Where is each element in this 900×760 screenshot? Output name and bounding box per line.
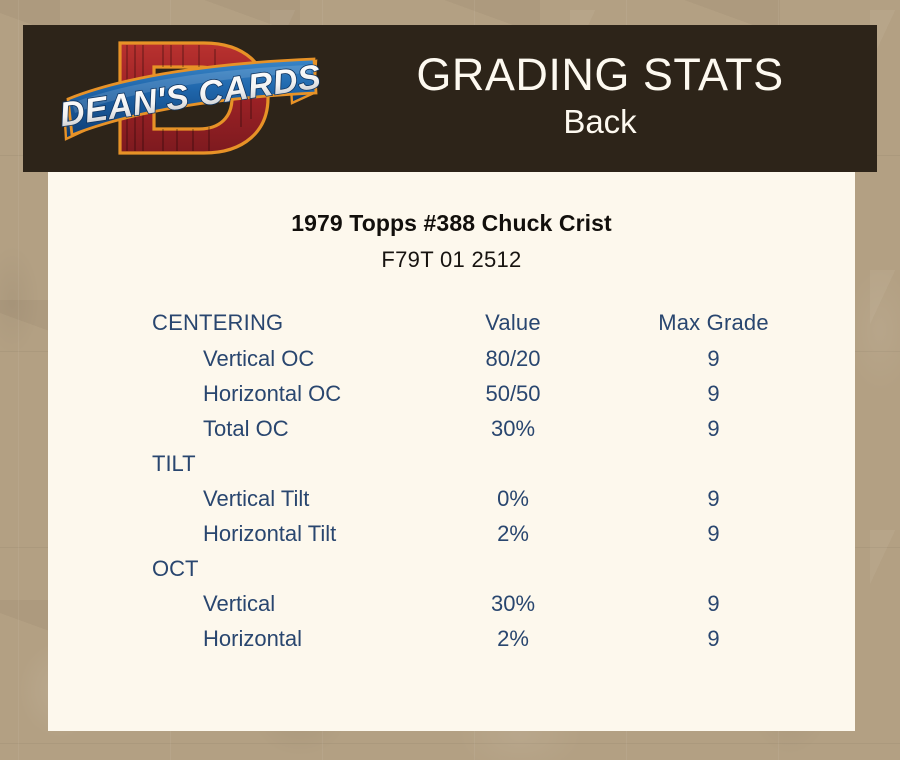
section-spacer bbox=[418, 446, 608, 481]
section-heading: OCT bbox=[48, 551, 418, 586]
column-header-value: Value bbox=[418, 305, 608, 341]
page-title: GRADING STATS bbox=[416, 51, 783, 99]
table-row: Horizontal Tilt2%9 bbox=[48, 516, 855, 551]
table-row: Vertical30%9 bbox=[48, 586, 855, 621]
page-subtitle: Back bbox=[563, 101, 636, 142]
stat-max-grade: 9 bbox=[608, 621, 855, 656]
table-row: Horizontal OC50/509 bbox=[48, 376, 855, 411]
stat-max-grade: 9 bbox=[608, 481, 855, 516]
stat-max-grade: 9 bbox=[608, 376, 855, 411]
grading-stats-table: CENTERING Value Max Grade Vertical OC80/… bbox=[48, 305, 855, 656]
header-bar: DEAN'S CARDS GRADING STATS Back bbox=[23, 25, 877, 172]
column-header-max-grade: Max Grade bbox=[608, 305, 855, 341]
stat-label: Vertical bbox=[48, 586, 418, 621]
stat-max-grade: 9 bbox=[608, 341, 855, 376]
card-title: 1979 Topps #388 Chuck Crist bbox=[48, 210, 855, 237]
section-spacer bbox=[608, 551, 855, 586]
stat-label: Total OC bbox=[48, 411, 418, 446]
stat-value: 2% bbox=[418, 516, 608, 551]
header-title-block: GRADING STATS Back bbox=[323, 25, 877, 172]
section-header-row: TILT bbox=[48, 446, 855, 481]
stat-value: 50/50 bbox=[418, 376, 608, 411]
content-panel: 1979 Topps #388 Chuck Crist F79T 01 2512… bbox=[48, 172, 855, 731]
stat-value: 80/20 bbox=[418, 341, 608, 376]
column-header-centering: CENTERING bbox=[48, 305, 418, 341]
stat-value: 30% bbox=[418, 586, 608, 621]
table-row: Horizontal2%9 bbox=[48, 621, 855, 656]
table-row: Vertical Tilt0%9 bbox=[48, 481, 855, 516]
section-spacer bbox=[608, 446, 855, 481]
table-row: Vertical OC80/209 bbox=[48, 341, 855, 376]
stat-label: Horizontal Tilt bbox=[48, 516, 418, 551]
table-head: CENTERING Value Max Grade bbox=[48, 305, 855, 341]
stat-value: 2% bbox=[418, 621, 608, 656]
card-serial: F79T 01 2512 bbox=[48, 247, 855, 273]
deans-cards-logo[interactable]: DEAN'S CARDS bbox=[58, 31, 323, 166]
stat-max-grade: 9 bbox=[608, 586, 855, 621]
table-header-row: CENTERING Value Max Grade bbox=[48, 305, 855, 341]
stat-label: Horizontal bbox=[48, 621, 418, 656]
stat-value: 0% bbox=[418, 481, 608, 516]
stat-max-grade: 9 bbox=[608, 411, 855, 446]
stat-label: Vertical OC bbox=[48, 341, 418, 376]
stat-label: Horizontal OC bbox=[48, 376, 418, 411]
table-row: Total OC30%9 bbox=[48, 411, 855, 446]
stat-value: 30% bbox=[418, 411, 608, 446]
table-body: Vertical OC80/209Horizontal OC50/509Tota… bbox=[48, 341, 855, 656]
section-heading: TILT bbox=[48, 446, 418, 481]
stat-label: Vertical Tilt bbox=[48, 481, 418, 516]
section-spacer bbox=[418, 551, 608, 586]
section-header-row: OCT bbox=[48, 551, 855, 586]
stat-max-grade: 9 bbox=[608, 516, 855, 551]
